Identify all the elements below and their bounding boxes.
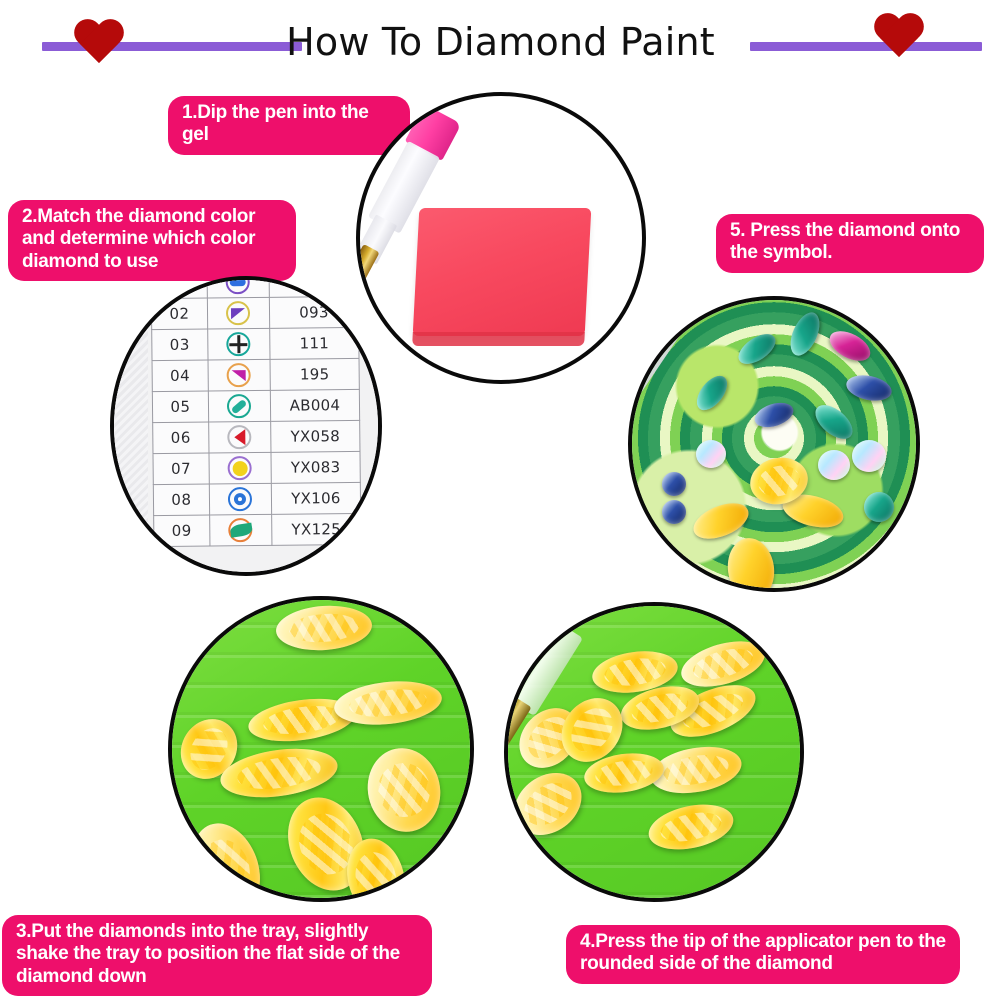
plus-teal-icon <box>208 328 270 360</box>
chart-color-code: 028 <box>269 276 358 297</box>
chart-color-code: YX083 <box>271 451 360 483</box>
step-label-4: 4.Press the tip of the applicator pen to… <box>566 925 960 984</box>
photo-step-5-pressing-diamond-onto-canvas <box>628 296 920 592</box>
infographic-page: How To Diamond Paint 1.Dip the pen into … <box>0 0 1001 1001</box>
canvas-diamond-gem <box>662 472 686 496</box>
chart-index: 03 <box>152 329 208 361</box>
chart-color-code: YX125 <box>272 513 361 545</box>
table-row: 03111 <box>152 327 359 360</box>
table-row: 08YX106 <box>153 482 360 515</box>
photo-step-4-pen-picking-up-diamond <box>504 602 804 902</box>
canvas-diamond-gem <box>818 450 850 480</box>
canvas-diamond-gem <box>662 500 686 524</box>
leaf-green-icon <box>210 514 272 546</box>
step-label-2: 2.Match the diamond color and determine … <box>8 200 296 281</box>
chart-color-code: YX106 <box>271 482 360 514</box>
double-dot-purple-icon <box>207 276 269 298</box>
table-row: 02093 <box>151 296 358 329</box>
table-row: 06YX058 <box>153 420 360 453</box>
canvas-diamond-gem <box>696 440 726 468</box>
canvas-diamond-gem <box>864 492 894 522</box>
arrow-red-icon <box>209 421 271 453</box>
chart-color-code: 195 <box>270 358 359 390</box>
table-row: 09YX125 <box>154 513 361 546</box>
page-title: How To Diamond Paint <box>0 20 1001 64</box>
gel-pad <box>413 208 592 336</box>
chart-index: 07 <box>153 453 209 485</box>
photo-step-2-color-symbol-chart: 02802093031110419505AB00406YX05807YX0830… <box>110 276 382 576</box>
table-row: 04195 <box>152 358 359 391</box>
chart-color-code: 111 <box>270 327 359 359</box>
chart-index: 05 <box>152 391 208 423</box>
ring-blue-icon <box>209 483 271 515</box>
chart-index <box>151 276 207 299</box>
slash-teal-icon <box>208 390 270 422</box>
filled-dot-yellow-icon <box>209 452 271 484</box>
photo-step-1-pen-dipping-into-gel <box>356 92 646 384</box>
table-row: 07YX083 <box>153 451 360 484</box>
chart-color-code: AB004 <box>270 389 359 421</box>
photo-step-3-diamonds-in-tray <box>168 596 474 902</box>
chart-index: 04 <box>152 360 208 392</box>
triangle-purple-icon <box>207 297 269 329</box>
table-row: 05AB004 <box>152 389 359 422</box>
step-label-5: 5. Press the diamond onto the symbol. <box>716 214 984 273</box>
canvas-diamond-gem <box>852 440 886 472</box>
chart-index: 06 <box>153 422 209 454</box>
table-row: 028 <box>151 276 358 299</box>
triangle-magenta-icon <box>208 359 270 391</box>
pen-tip <box>356 244 380 284</box>
chart-color-code: YX058 <box>271 420 360 452</box>
step-label-3: 3.Put the diamonds into the tray, slight… <box>2 915 432 996</box>
chart-color-code: 093 <box>269 296 358 328</box>
chart-index: 09 <box>154 515 210 547</box>
chart-index: 08 <box>153 484 209 516</box>
color-chart-table: 02802093031110419505AB00406YX05807YX0830… <box>151 276 362 547</box>
chart-index: 02 <box>151 298 207 330</box>
